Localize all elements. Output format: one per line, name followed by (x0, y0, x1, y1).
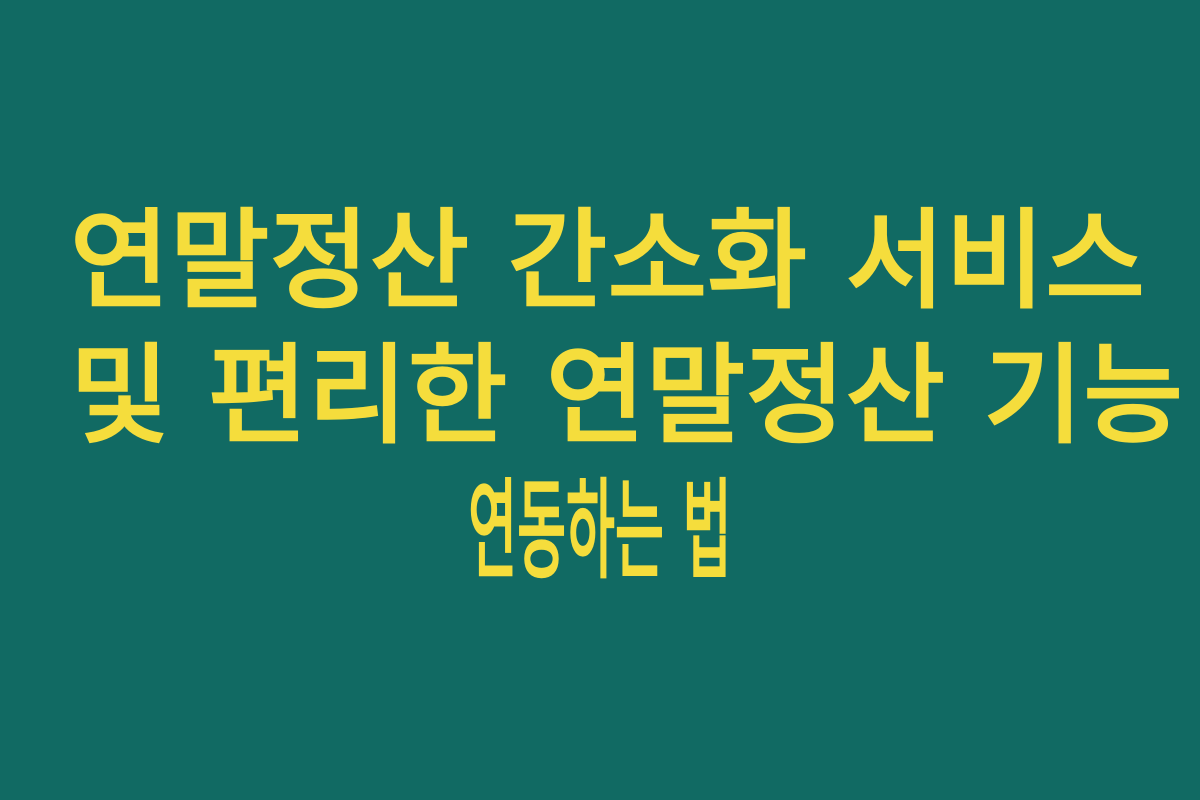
banner-card: 연말정산 간소화 서비스 및 편리한 연말정산 기능 연동하는 법 (0, 0, 1200, 800)
title-line-2: 및 편리한 연말정산 기능 (70, 329, 1130, 464)
title-line-3: 연동하는 법 (340, 464, 859, 599)
page-title: 연말정산 간소화 서비스 및 편리한 연말정산 기능 연동하는 법 (70, 194, 1130, 599)
title-line-1: 연말정산 간소화 서비스 (70, 194, 1130, 329)
